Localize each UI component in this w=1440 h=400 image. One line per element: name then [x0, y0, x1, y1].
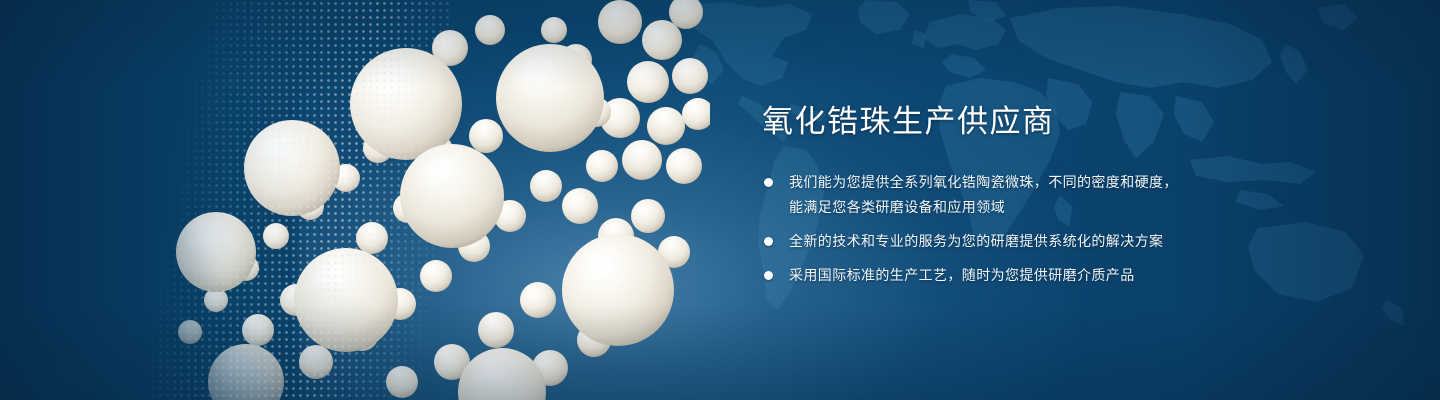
- bullet-dot-icon: [764, 271, 773, 280]
- feature-text: 采用国际标准的生产工艺，随时为您提供研磨介质产品: [789, 263, 1362, 288]
- feature-text: 我们能为您提供全系列氧化锆陶瓷微珠，不同的密度和硬度， 能满足您各类研磨设备和应…: [789, 170, 1362, 220]
- bullet-dot-icon: [764, 178, 773, 187]
- feature-text: 全新的技术和专业的服务为您的研磨提供系统化的解决方案: [789, 229, 1362, 254]
- zirconia-beads-photo: [150, 0, 710, 400]
- banner-feature-list: 我们能为您提供全系列氧化锆陶瓷微珠，不同的密度和硬度， 能满足您各类研磨设备和应…: [762, 170, 1362, 288]
- banner-headline: 氧化锆珠生产供应商: [762, 100, 1362, 144]
- feature-line-1: 全新的技术和专业的服务为您的研磨提供系统化的解决方案: [789, 233, 1163, 249]
- hero-banner: 氧化锆珠生产供应商 我们能为您提供全系列氧化锆陶瓷微珠，不同的密度和硬度， 能满…: [0, 0, 1440, 400]
- banner-copy: 氧化锆珠生产供应商 我们能为您提供全系列氧化锆陶瓷微珠，不同的密度和硬度， 能满…: [762, 100, 1362, 288]
- feature-item: 全新的技术和专业的服务为您的研磨提供系统化的解决方案: [762, 229, 1362, 254]
- bullet-dot-icon: [764, 237, 773, 246]
- feature-line-1: 我们能为您提供全系列氧化锆陶瓷微珠，不同的密度和硬度，: [789, 174, 1178, 190]
- feature-line-1: 采用国际标准的生产工艺，随时为您提供研磨介质产品: [789, 267, 1135, 283]
- feature-item: 采用国际标准的生产工艺，随时为您提供研磨介质产品: [762, 263, 1362, 288]
- feature-item: 我们能为您提供全系列氧化锆陶瓷微珠，不同的密度和硬度， 能满足您各类研磨设备和应…: [762, 170, 1362, 220]
- feature-line-2: 能满足您各类研磨设备和应用领域: [789, 195, 1362, 220]
